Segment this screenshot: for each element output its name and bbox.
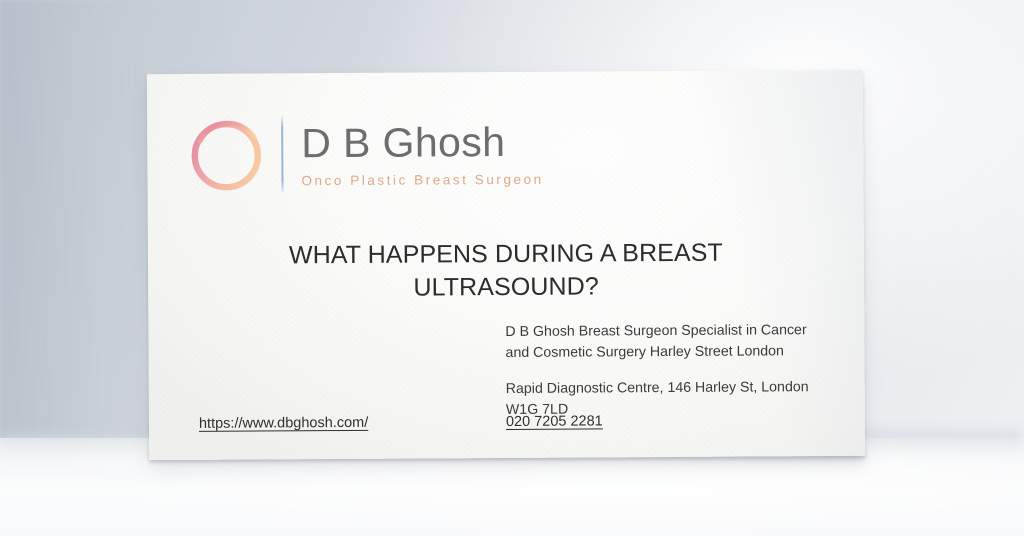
logo-lockup: D B Ghosh Onco Plastic Breast Surgeon (183, 110, 544, 198)
footer-links: https://www.dbghosh.com/ 020 7205 2281 (149, 412, 865, 444)
circle-ring-logo (183, 111, 270, 198)
phone-link[interactable]: 020 7205 2281 (506, 413, 603, 430)
brand-tagline: Onco Plastic Breast Surgeon (301, 171, 543, 187)
headline: WHAT HAPPENS DURING A BREAST ULTRASOUND? (206, 236, 806, 306)
website-link[interactable]: https://www.dbghosh.com/ (199, 415, 368, 432)
vertical-divider-icon (281, 115, 283, 193)
business-card-scene: D B Ghosh Onco Plastic Breast Surgeon WH… (0, 0, 1024, 536)
brand-name: D B Ghosh (301, 121, 543, 166)
details-block: D B Ghosh Breast Surgeon Specialist in C… (505, 320, 826, 420)
logo-text-block: D B Ghosh Onco Plastic Breast Surgeon (301, 119, 544, 188)
business-card: D B Ghosh Onco Plastic Breast Surgeon WH… (147, 70, 865, 460)
practice-description: D B Ghosh Breast Surgeon Specialist in C… (505, 320, 825, 364)
